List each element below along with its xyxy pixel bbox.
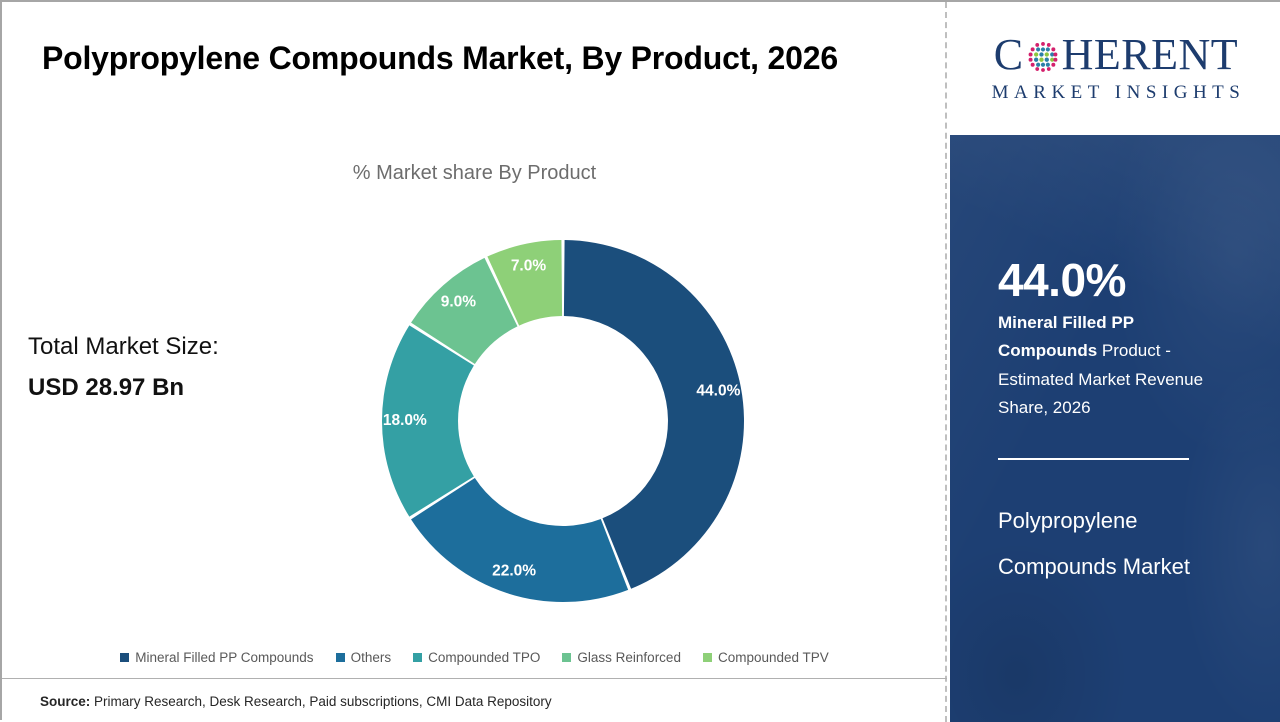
company-logo: C: [950, 2, 1280, 135]
legend-swatch-icon: [562, 653, 571, 662]
donut-chart: 44.0%22.0%18.0%9.0%7.0%: [380, 232, 746, 610]
donut-chart-svg: 44.0%22.0%18.0%9.0%7.0%: [380, 232, 746, 610]
legend-label: Glass Reinforced: [577, 650, 681, 665]
highlight-divider: [998, 458, 1189, 460]
legend-label: Compounded TPO: [428, 650, 540, 665]
total-market-value: USD 28.97 Bn: [28, 368, 219, 409]
globe-dots-icon-svg: [1025, 39, 1061, 75]
donut-slice-label: 9.0%: [441, 293, 477, 310]
legend-label: Mineral Filled PP Compounds: [135, 650, 313, 665]
source-divider: [2, 678, 947, 679]
chart-panel: Polypropylene Compounds Market, By Produ…: [2, 2, 947, 722]
legend-swatch-icon: [120, 653, 129, 662]
legend-label: Others: [351, 650, 392, 665]
logo-subtitle: MARKET INSIGHTS: [987, 82, 1246, 104]
market-name: Polypropylene Compounds Market: [998, 498, 1238, 589]
legend-item[interactable]: Compounded TPO: [413, 650, 540, 665]
legend-item[interactable]: Compounded TPV: [703, 650, 829, 665]
sidebar-panel: C: [950, 2, 1280, 722]
logo-wordmark: C: [994, 33, 1238, 77]
chart-subtitle: % Market share By Product: [2, 162, 947, 185]
highlight-description: Mineral Filled PP Compounds Product - Es…: [998, 309, 1226, 423]
total-market-size: Total Market Size: USD 28.97 Bn: [28, 327, 219, 409]
legend-item[interactable]: Glass Reinforced: [562, 650, 681, 665]
donut-slice-group: [382, 240, 744, 602]
legend-swatch-icon: [413, 653, 422, 662]
donut-slice-label: 22.0%: [492, 563, 536, 580]
highlight-percentage: 44.0%: [998, 253, 1126, 307]
source-note: Source: Primary Research, Desk Research,…: [40, 694, 552, 709]
legend-label: Compounded TPV: [718, 650, 829, 665]
source-prefix: Source:: [40, 694, 90, 709]
donut-slice-label: 18.0%: [383, 412, 427, 429]
donut-slice-label: 7.0%: [511, 258, 547, 275]
legend-item[interactable]: Others: [336, 650, 392, 665]
logo-word-herent: HERENT: [1062, 33, 1239, 77]
donut-slice: [411, 478, 628, 602]
source-text: Primary Research, Desk Research, Paid su…: [90, 694, 551, 709]
legend-swatch-icon: [703, 653, 712, 662]
donut-slice-label: 44.0%: [696, 382, 740, 399]
logo-letter-c: C: [994, 33, 1024, 77]
highlight-card: 44.0% Mineral Filled PP Compounds Produc…: [950, 135, 1280, 722]
chart-legend: Mineral Filled PP CompoundsOthersCompoun…: [2, 650, 947, 665]
legend-item[interactable]: Mineral Filled PP Compounds: [120, 650, 313, 665]
legend-swatch-icon: [336, 653, 345, 662]
total-market-label: Total Market Size:: [28, 333, 219, 360]
page-title: Polypropylene Compounds Market, By Produ…: [42, 34, 912, 84]
globe-dots-icon: [1025, 39, 1061, 75]
infographic-root: Polypropylene Compounds Market, By Produ…: [0, 0, 1280, 720]
